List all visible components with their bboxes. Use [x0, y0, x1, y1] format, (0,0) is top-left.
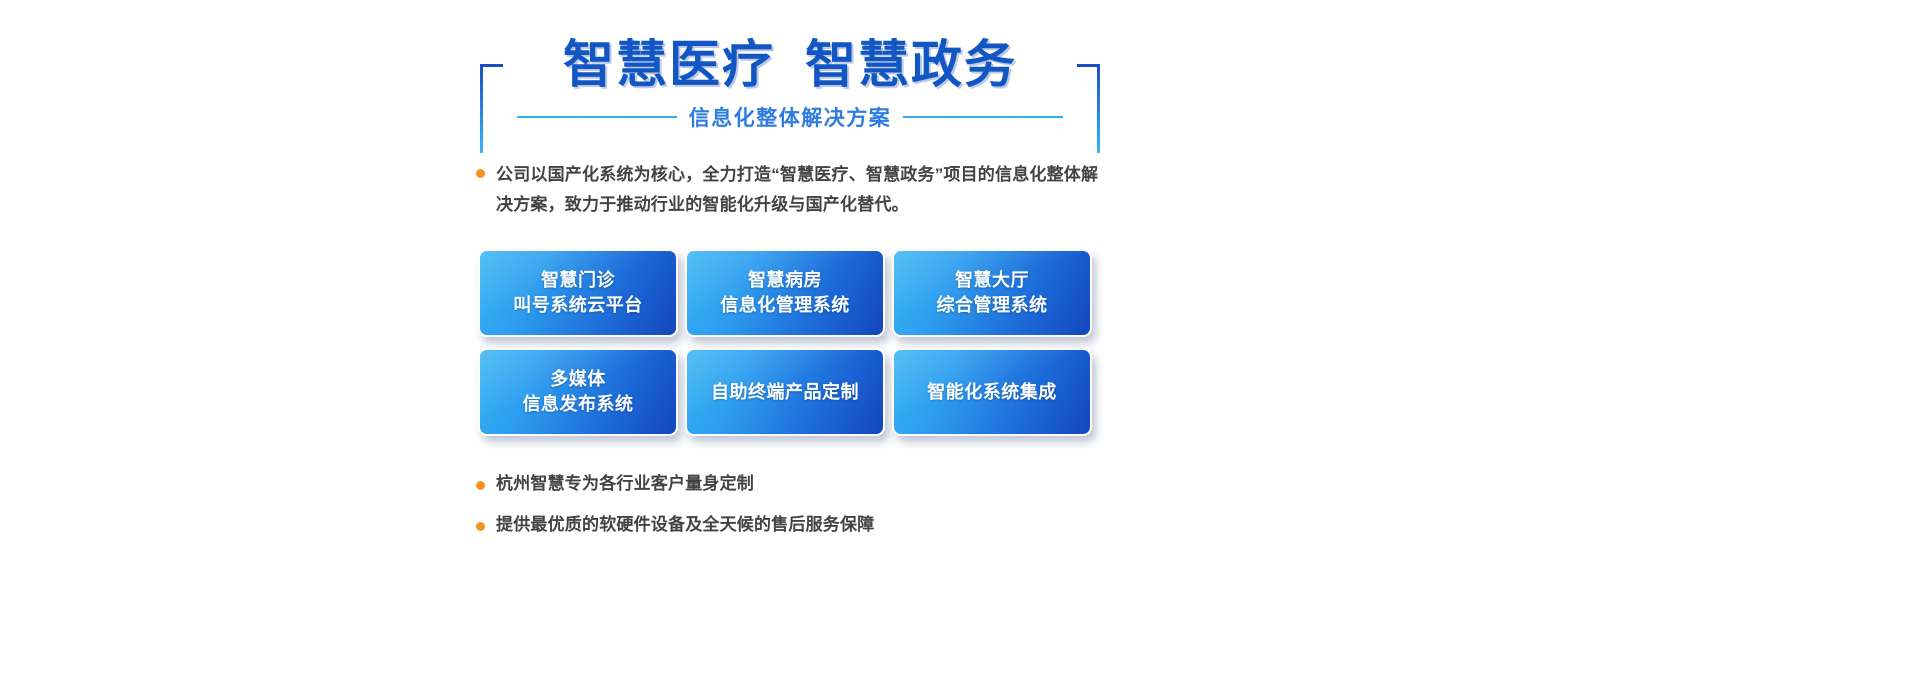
- bullet-dot-icon: [476, 481, 485, 490]
- subtitle-rule-left: [517, 116, 677, 118]
- solution-card-4-label: 多媒体 信息发布系统: [523, 367, 634, 417]
- subtitle-row: 信息化整体解决方案: [480, 102, 1100, 132]
- page-title-part-1: 智慧医疗: [563, 36, 775, 93]
- promo-banner: 智慧医疗智慧政务 信息化整体解决方案 公司以国产化系统为核心，全力打造“智慧医疗…: [0, 0, 1920, 680]
- solution-card-3[interactable]: 智慧大厅 综合管理系统: [892, 249, 1092, 337]
- solution-card-1-label: 智慧门诊 叫号系统云平台: [513, 268, 643, 318]
- list-item: 提供最优质的软硬件设备及全天候的售后服务保障: [476, 513, 1096, 537]
- solution-card-grid: 智慧门诊 叫号系统云平台 智慧病房 信息化管理系统 智慧大厅 综合管理系统 多媒…: [478, 249, 1092, 436]
- title-block: 智慧医疗智慧政务 信息化整体解决方案: [480, 30, 1100, 140]
- feature-bullet-2-text: 提供最优质的软硬件设备及全天候的售后服务保障: [496, 513, 874, 537]
- intro-paragraph: 公司以国产化系统为核心，全力打造“智慧医疗、智慧政务”项目的信息化整体解决方案，…: [476, 160, 1101, 220]
- subtitle-rule-right: [903, 116, 1063, 118]
- solution-card-6-label: 智能化系统集成: [927, 380, 1057, 405]
- solution-card-5[interactable]: 自助终端产品定制: [685, 348, 885, 436]
- feature-bullet-list: 杭州智慧专为各行业客户量身定制 提供最优质的软硬件设备及全天候的售后服务保障: [476, 472, 1096, 554]
- solution-card-1[interactable]: 智慧门诊 叫号系统云平台: [478, 249, 678, 337]
- solution-card-2[interactable]: 智慧病房 信息化管理系统: [685, 249, 885, 337]
- list-item: 杭州智慧专为各行业客户量身定制: [476, 472, 1096, 496]
- solution-card-4[interactable]: 多媒体 信息发布系统: [478, 348, 678, 436]
- feature-bullet-1-text: 杭州智慧专为各行业客户量身定制: [496, 472, 754, 496]
- page-title: 智慧医疗智慧政务: [480, 30, 1100, 100]
- solution-card-3-label: 智慧大厅 综合管理系统: [937, 268, 1048, 318]
- bullet-dot-icon: [476, 522, 485, 531]
- bullet-dot-icon: [476, 169, 485, 178]
- solution-card-5-label: 自助终端产品定制: [711, 380, 859, 405]
- page-subtitle: 信息化整体解决方案: [689, 102, 892, 132]
- solution-card-6[interactable]: 智能化系统集成: [892, 348, 1092, 436]
- solution-card-2-label: 智慧病房 信息化管理系统: [720, 268, 850, 318]
- page-title-part-2: 智慧政务: [805, 36, 1017, 93]
- intro-paragraph-text: 公司以国产化系统为核心，全力打造“智慧医疗、智慧政务”项目的信息化整体解决方案，…: [496, 160, 1101, 220]
